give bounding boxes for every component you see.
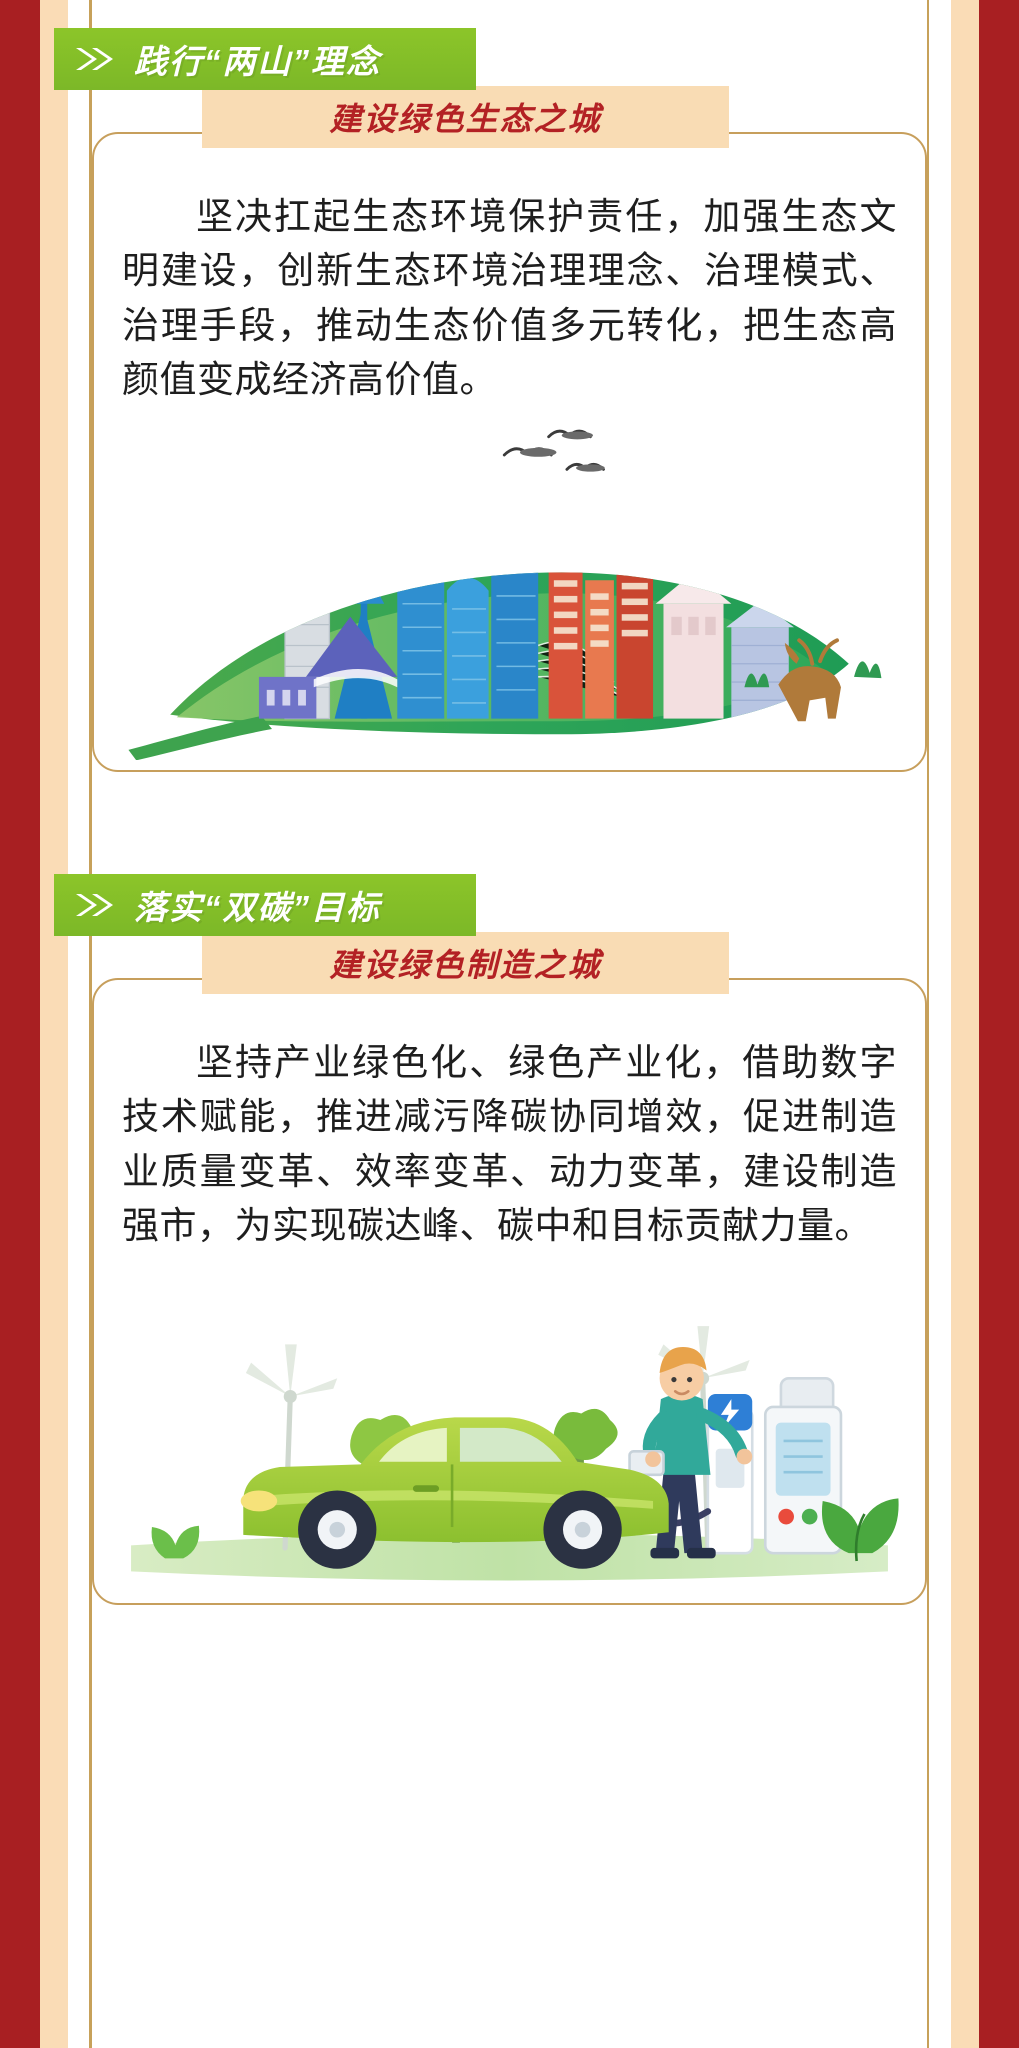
- section-2-card: 坚持产业绿色化、绿色产业化，借助数字技术赋能，推进减污降碳协同增效，促进制造业质…: [92, 978, 927, 1605]
- section-2-green-banner-label: 落实“双碳”目标: [134, 881, 381, 929]
- frame-band-peach-left: [40, 0, 68, 2048]
- poster-page: 践行“两山”理念 建设绿色生态之城 坚决扛起生态环境保护责任，加强生态文明建设，…: [0, 0, 1019, 2048]
- section-eco-city: 践行“两山”理念 建设绿色生态之城 坚决扛起生态环境保护责任，加强生态文明建设，…: [92, 28, 927, 772]
- section-1-green-banner-label: 践行“两山”理念: [134, 35, 381, 83]
- double-chevron-right-icon: [74, 45, 118, 73]
- section-1-orange-banner-label: 建设绿色生态之城: [329, 94, 601, 140]
- poster-content: 践行“两山”理念 建设绿色生态之城 坚决扛起生态环境保护责任，加强生态文明建设，…: [92, 0, 927, 2048]
- frame-band-red-left: [0, 0, 40, 2048]
- section-2-green-banner: 落实“双碳”目标: [54, 874, 476, 936]
- section-1-orange-banner: 建设绿色生态之城: [202, 86, 729, 148]
- section-1-green-banner: 践行“两山”理念: [54, 28, 476, 90]
- section-1-body-text: 坚决扛起生态环境保护责任，加强生态文明建设，创新生态环境治理理念、治理模式、治理…: [118, 190, 901, 408]
- frame-band-peach-right: [951, 0, 979, 2048]
- section-2-body-text: 坚持产业绿色化、绿色产业化，借助数字技术赋能，推进减污降碳协同增效，促进制造业质…: [118, 1036, 901, 1254]
- section-2-orange-banner: 建设绿色制造之城: [202, 932, 729, 994]
- green-leaf-city-skyline-illustration: [118, 408, 901, 760]
- section-green-manufacturing: 落实“双碳”目标 建设绿色制造之城 坚持产业绿色化、绿色产业化，借助数字技术赋能…: [92, 874, 927, 1605]
- section-1-card: 坚决扛起生态环境保护责任，加强生态文明建设，创新生态环境治理理念、治理模式、治理…: [92, 132, 927, 772]
- section-2-orange-banner-label: 建设绿色制造之城: [329, 940, 601, 986]
- frame-band-white-right: [929, 0, 951, 2048]
- frame-band-white-left: [68, 0, 90, 2048]
- ev-charging-station-illustration: [118, 1253, 901, 1592]
- double-chevron-right-icon: [74, 891, 118, 919]
- frame-band-red-right: [979, 0, 1019, 2048]
